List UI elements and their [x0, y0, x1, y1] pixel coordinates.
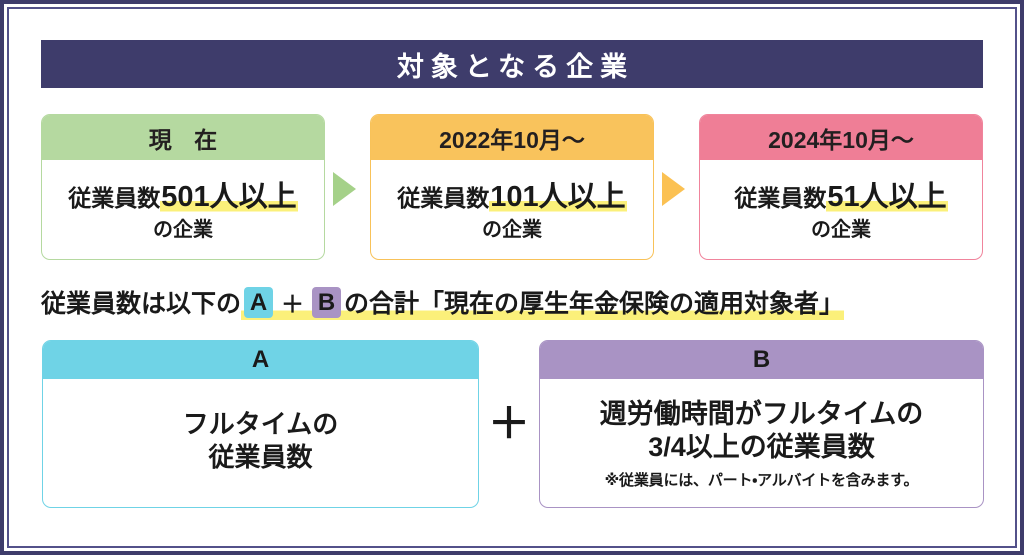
arrow-right-icon-1 [333, 172, 356, 206]
definition-highlighted-run: A＋Bの合計「現在の厚生年金保険の適用対象者」 [241, 284, 844, 320]
infographic-content: 対象となる企業 現 在 従業員数501人以上 の企業 2022年10月〜 従業員… [0, 0, 1024, 555]
timeline-card-2022-suffix: の企業 [482, 219, 542, 241]
timeline-card-2022-threshold: 101人以上 [489, 181, 626, 213]
timeline-card-2022-body: 従業員数101人以上 の企業 [371, 160, 653, 260]
panel-a-header: A [43, 341, 478, 379]
timeline-card-2024-threshold: 51人以上 [826, 181, 947, 213]
timeline-card-current-prefix: 従業員数 [68, 185, 160, 211]
arrow-right-icon-2 [662, 172, 685, 206]
badge-a: A [244, 287, 273, 318]
timeline-card-2024-line1: 従業員数51人以上 [734, 181, 947, 214]
timeline-card-2024-body: 従業員数51人以上 の企業 [700, 160, 982, 260]
definition-lead-text: 従業員数は以下の [41, 284, 241, 320]
definition-tail-text: の合計「現在の厚生年金保険の適用対象者」 [344, 284, 844, 320]
panel-a: A フルタイムの 従業員数 [42, 340, 479, 508]
timeline-card-2024: 2024年10月〜 従業員数51人以上 の企業 [699, 114, 983, 260]
timeline-card-2024-header: 2024年10月〜 [700, 115, 982, 160]
timeline-card-2022-prefix: 従業員数 [397, 185, 489, 211]
timeline-card-current-line1: 従業員数501人以上 [68, 181, 297, 214]
definition-panels: A フルタイムの 従業員数 ＋ B 週労働時間がフルタイムの 3/4以上の従業員… [42, 340, 984, 508]
timeline-card-current: 現 在 従業員数501人以上 の企業 [41, 114, 325, 260]
timeline-card-current-suffix: の企業 [153, 219, 213, 241]
definition-plus-symbol: ＋ [281, 285, 304, 319]
timeline-card-current-header: 現 在 [42, 115, 324, 160]
badge-b: B [312, 287, 341, 318]
timeline-card-current-threshold: 501人以上 [160, 181, 297, 213]
panel-b-text: 週労働時間がフルタイムの 3/4以上の従業員数 [600, 398, 923, 464]
timeline-card-2022: 2022年10月〜 従業員数101人以上 の企業 [370, 114, 654, 260]
plus-operator: ＋ [479, 340, 539, 508]
panel-b-note: ※従業員には、パート・アルバイトを含みます。 [605, 469, 919, 490]
timeline-card-2024-prefix: 従業員数 [734, 185, 826, 211]
definition-line: 従業員数は以下のA＋Bの合計「現在の厚生年金保険の適用対象者」 [41, 282, 983, 322]
timeline-card-current-body: 従業員数501人以上 の企業 [42, 160, 324, 260]
timeline-card-2022-line1: 従業員数101人以上 [397, 181, 626, 214]
panel-a-body: フルタイムの 従業員数 [43, 379, 478, 507]
timeline-card-2024-suffix: の企業 [811, 219, 871, 241]
timeline-card-2022-header: 2022年10月〜 [371, 115, 653, 160]
page-title: 対象となる企業 [41, 40, 983, 88]
panel-b-header: B [540, 341, 983, 379]
panel-b: B 週労働時間がフルタイムの 3/4以上の従業員数 ※従業員には、パート・アルバ… [539, 340, 984, 508]
infographic-root: 対象となる企業 現 在 従業員数501人以上 の企業 2022年10月〜 従業員… [0, 0, 1024, 555]
panel-b-body: 週労働時間がフルタイムの 3/4以上の従業員数 ※従業員には、パート・アルバイト… [540, 379, 983, 507]
timeline-section: 現 在 従業員数501人以上 の企業 2022年10月〜 従業員数101人以上 … [41, 114, 983, 260]
panel-a-text: フルタイムの 従業員数 [183, 408, 338, 475]
